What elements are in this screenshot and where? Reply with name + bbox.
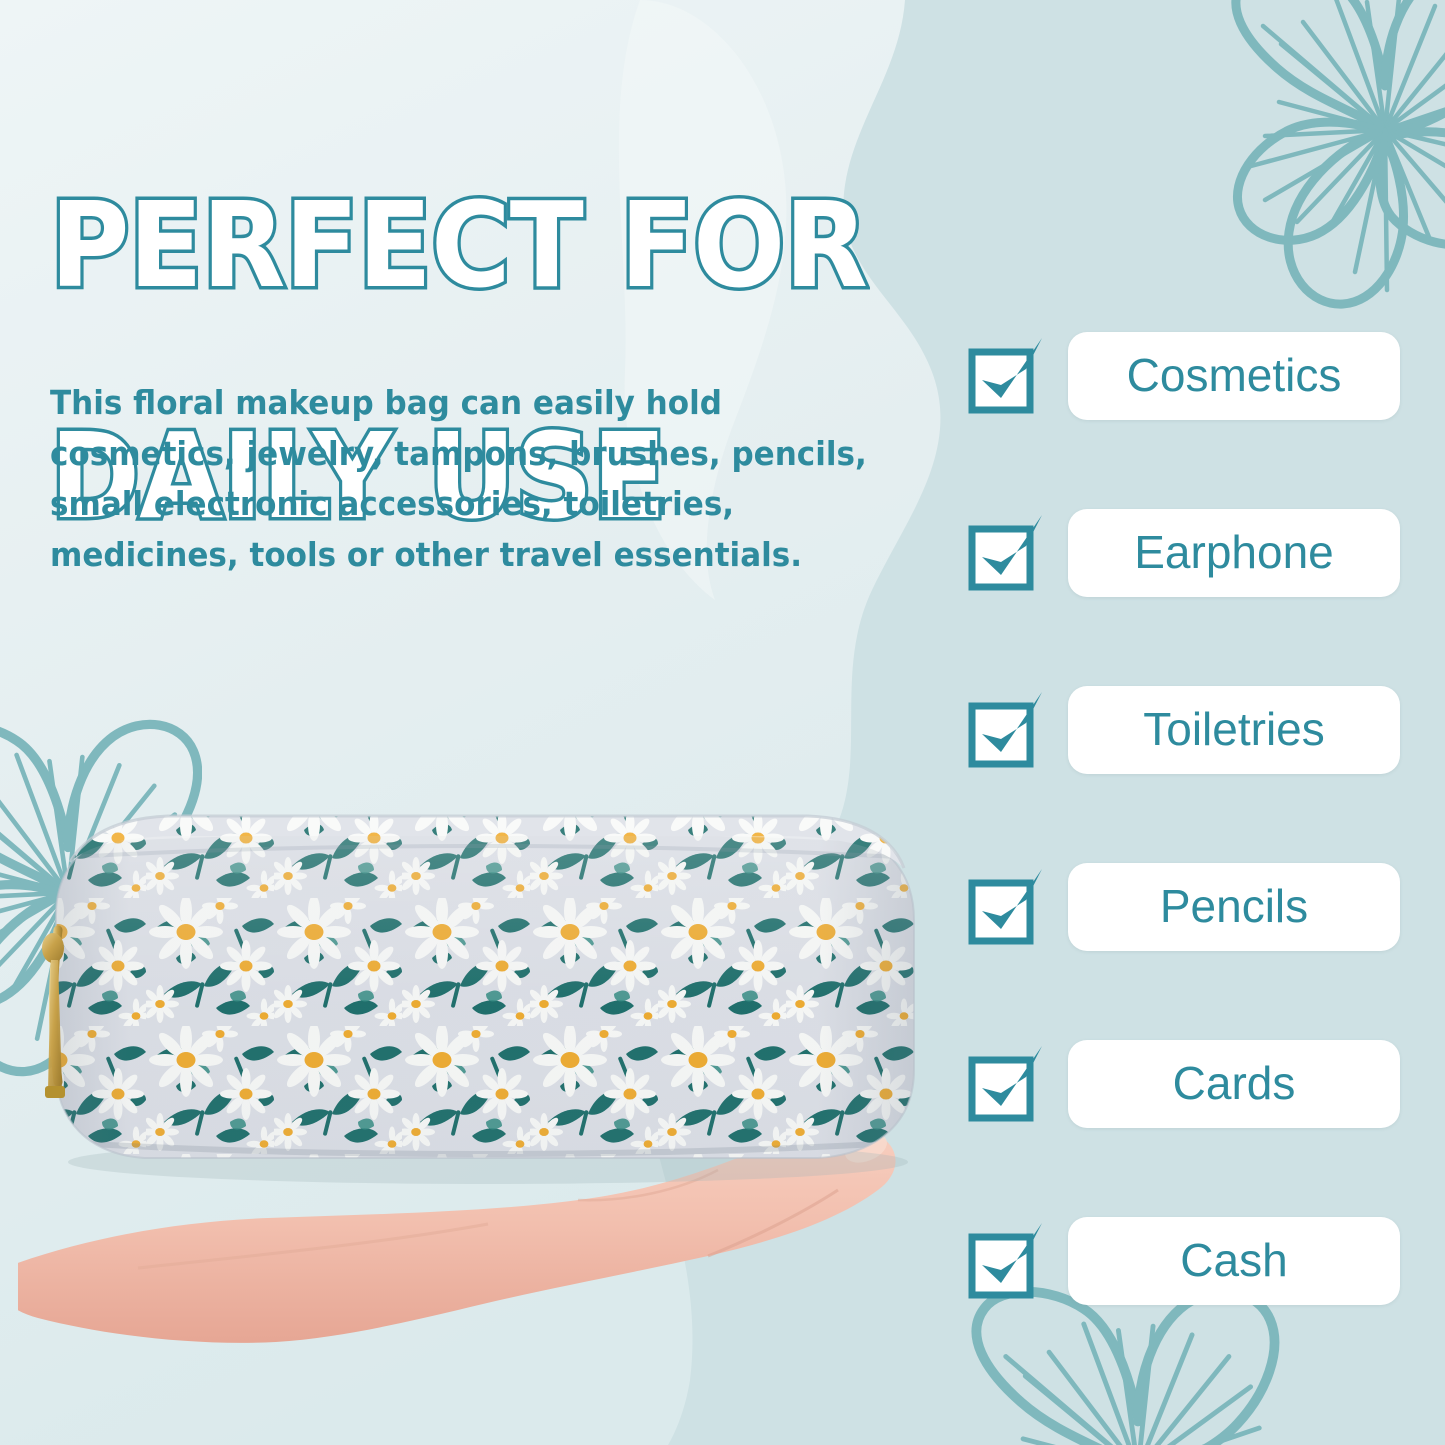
hibiscus-outline-icon xyxy=(1185,0,1445,320)
list-item[interactable]: Cosmetics xyxy=(968,332,1408,420)
list-item-label: Cards xyxy=(1173,1060,1296,1109)
feature-pill[interactable]: Toiletries xyxy=(1068,686,1400,774)
feature-checklist: Cosmetics Earphone Toiletries xyxy=(968,332,1408,1305)
list-item-label: Cash xyxy=(1180,1237,1287,1286)
infographic-canvas: PERFECT FOR DAILY USE This floral makeup… xyxy=(0,0,1445,1445)
list-item[interactable]: Cash xyxy=(968,1217,1408,1305)
checkbox-checked-icon[interactable] xyxy=(968,867,1046,945)
list-item-label: Cosmetics xyxy=(1127,352,1342,401)
list-item-label: Toiletries xyxy=(1143,706,1325,755)
checkbox-checked-icon[interactable] xyxy=(968,1221,1046,1299)
list-item[interactable]: Earphone xyxy=(968,509,1408,597)
product-photo xyxy=(18,770,948,1445)
hibiscus-outline-icon xyxy=(915,1285,1285,1445)
list-item[interactable]: Cards xyxy=(968,1040,1408,1128)
checkbox-checked-icon[interactable] xyxy=(968,1044,1046,1122)
makeup-bag xyxy=(18,770,948,1445)
checkbox-checked-icon[interactable] xyxy=(968,513,1046,591)
feature-pill[interactable]: Pencils xyxy=(1068,863,1400,951)
product-illustration xyxy=(18,770,948,1445)
checkbox-checked-icon[interactable] xyxy=(968,336,1046,414)
feature-pill[interactable]: Cash xyxy=(1068,1217,1400,1305)
description-paragraph: This floral makeup bag can easily hold c… xyxy=(50,378,914,581)
list-item[interactable]: Pencils xyxy=(968,863,1408,951)
list-item-label: Pencils xyxy=(1160,883,1308,932)
page-title-line-1: PERFECT FOR xyxy=(50,188,933,304)
feature-pill[interactable]: Cosmetics xyxy=(1068,332,1400,420)
feature-pill[interactable]: Cards xyxy=(1068,1040,1400,1128)
feature-pill[interactable]: Earphone xyxy=(1068,509,1400,597)
list-item-label: Earphone xyxy=(1134,529,1334,578)
checkbox-checked-icon[interactable] xyxy=(968,690,1046,768)
list-item[interactable]: Toiletries xyxy=(968,686,1408,774)
